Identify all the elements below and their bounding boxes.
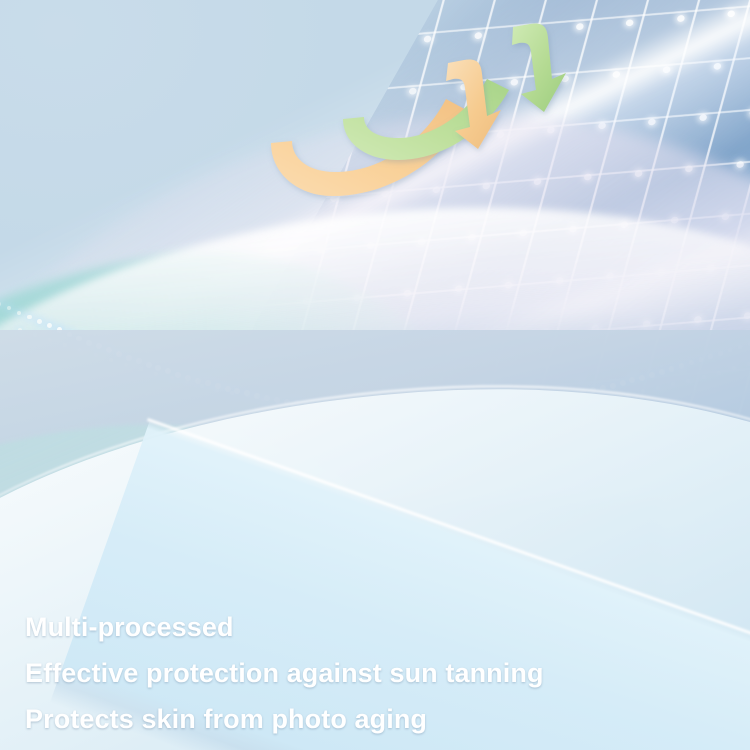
product-banner: Multi-processed Effective protection aga… (0, 0, 750, 750)
tagline-line-3: Protects skin from photo aging (25, 696, 725, 742)
tagline-line-1: Multi-processed (25, 604, 725, 650)
tagline-line-2: Effective protection against sun tanning (25, 650, 725, 696)
tagline-block: Multi-processed Effective protection aga… (25, 604, 725, 742)
green-arrow-tip (512, 24, 566, 112)
